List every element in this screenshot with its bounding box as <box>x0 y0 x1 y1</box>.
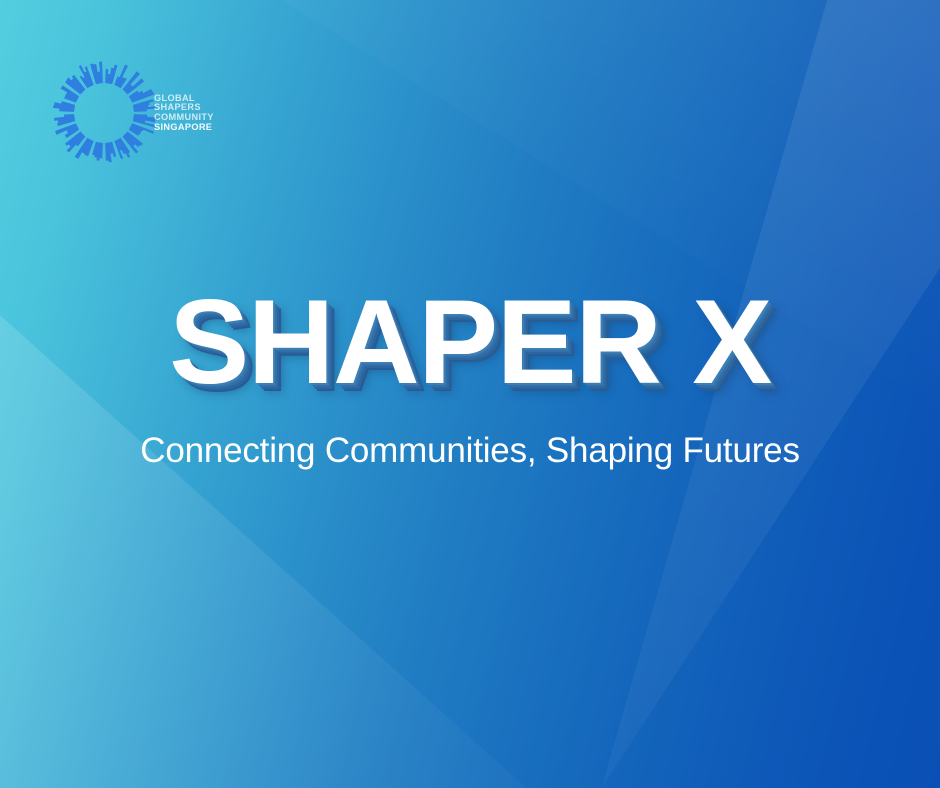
global-shapers-ring-icon <box>48 57 160 169</box>
page-title: SHAPER X <box>0 282 940 402</box>
logo-wordmark-line-4: SINGAPORE <box>154 123 214 133</box>
page-subtitle: Connecting Communities, Shaping Futures <box>0 402 940 468</box>
logo-wordmark: GLOBAL SHAPERS COMMUNITY SINGAPORE <box>154 94 214 132</box>
logo-lockup: GLOBAL SHAPERS COMMUNITY SINGAPORE <box>48 57 214 169</box>
hero-block: SHAPER X Connecting Communities, Shaping… <box>0 282 940 468</box>
title-card: GLOBAL SHAPERS COMMUNITY SINGAPORE SHAPE… <box>0 0 940 788</box>
